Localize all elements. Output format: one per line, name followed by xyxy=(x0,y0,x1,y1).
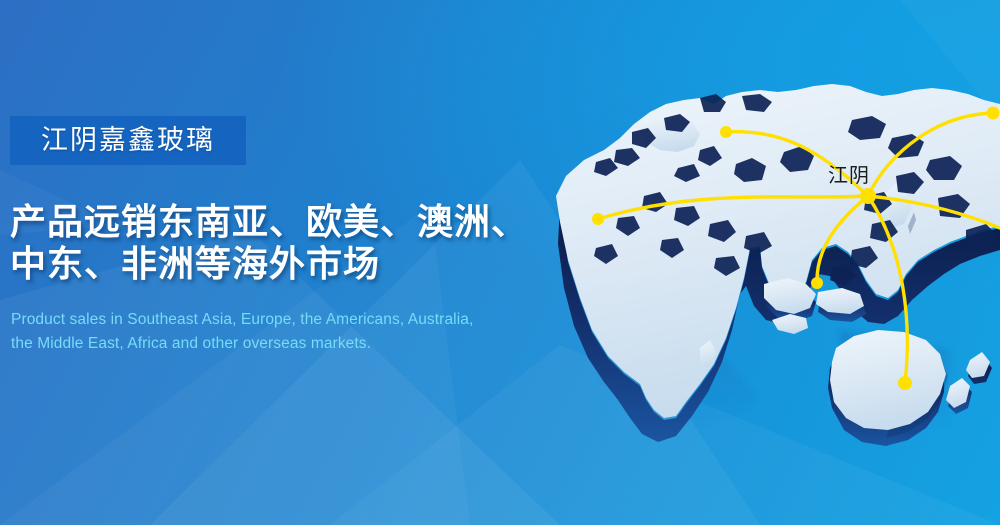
endpoint-europe xyxy=(720,126,732,138)
subtitle-line-1: Product sales in Southeast Asia, Europe,… xyxy=(11,308,556,332)
promo-banner: 江阴 江阴嘉鑫玻璃 产品远销东南亚、欧美、澳洲、 中东、非洲等海外市场 Prod… xyxy=(0,0,1000,525)
endpoint-northeast-asia xyxy=(987,107,1000,120)
endpoint-southeast-asia xyxy=(811,277,823,289)
brand-badge-label: 江阴嘉鑫玻璃 xyxy=(41,127,215,154)
brand-badge: 江阴嘉鑫玻璃 xyxy=(10,116,246,165)
endpoint-australia xyxy=(898,376,912,390)
subtitle: Product sales in Southeast Asia, Europe,… xyxy=(11,308,556,356)
headline-line-1: 产品远销东南亚、欧美、澳洲、 xyxy=(10,202,555,244)
endpoint-west-africa xyxy=(592,213,604,225)
headline: 产品远销东南亚、欧美、澳洲、 中东、非洲等海外市场 xyxy=(10,202,555,286)
subtitle-line-2: the Middle East, Africa and other overse… xyxy=(11,332,556,356)
endpoint-hub-jiangyin xyxy=(860,188,876,204)
map-hub-label: 江阴 xyxy=(828,165,870,185)
headline-line-2: 中东、非洲等海外市场 xyxy=(10,244,555,286)
banner-text-block: 江阴嘉鑫玻璃 产品远销东南亚、欧美、澳洲、 中东、非洲等海外市场 Product… xyxy=(0,0,560,525)
